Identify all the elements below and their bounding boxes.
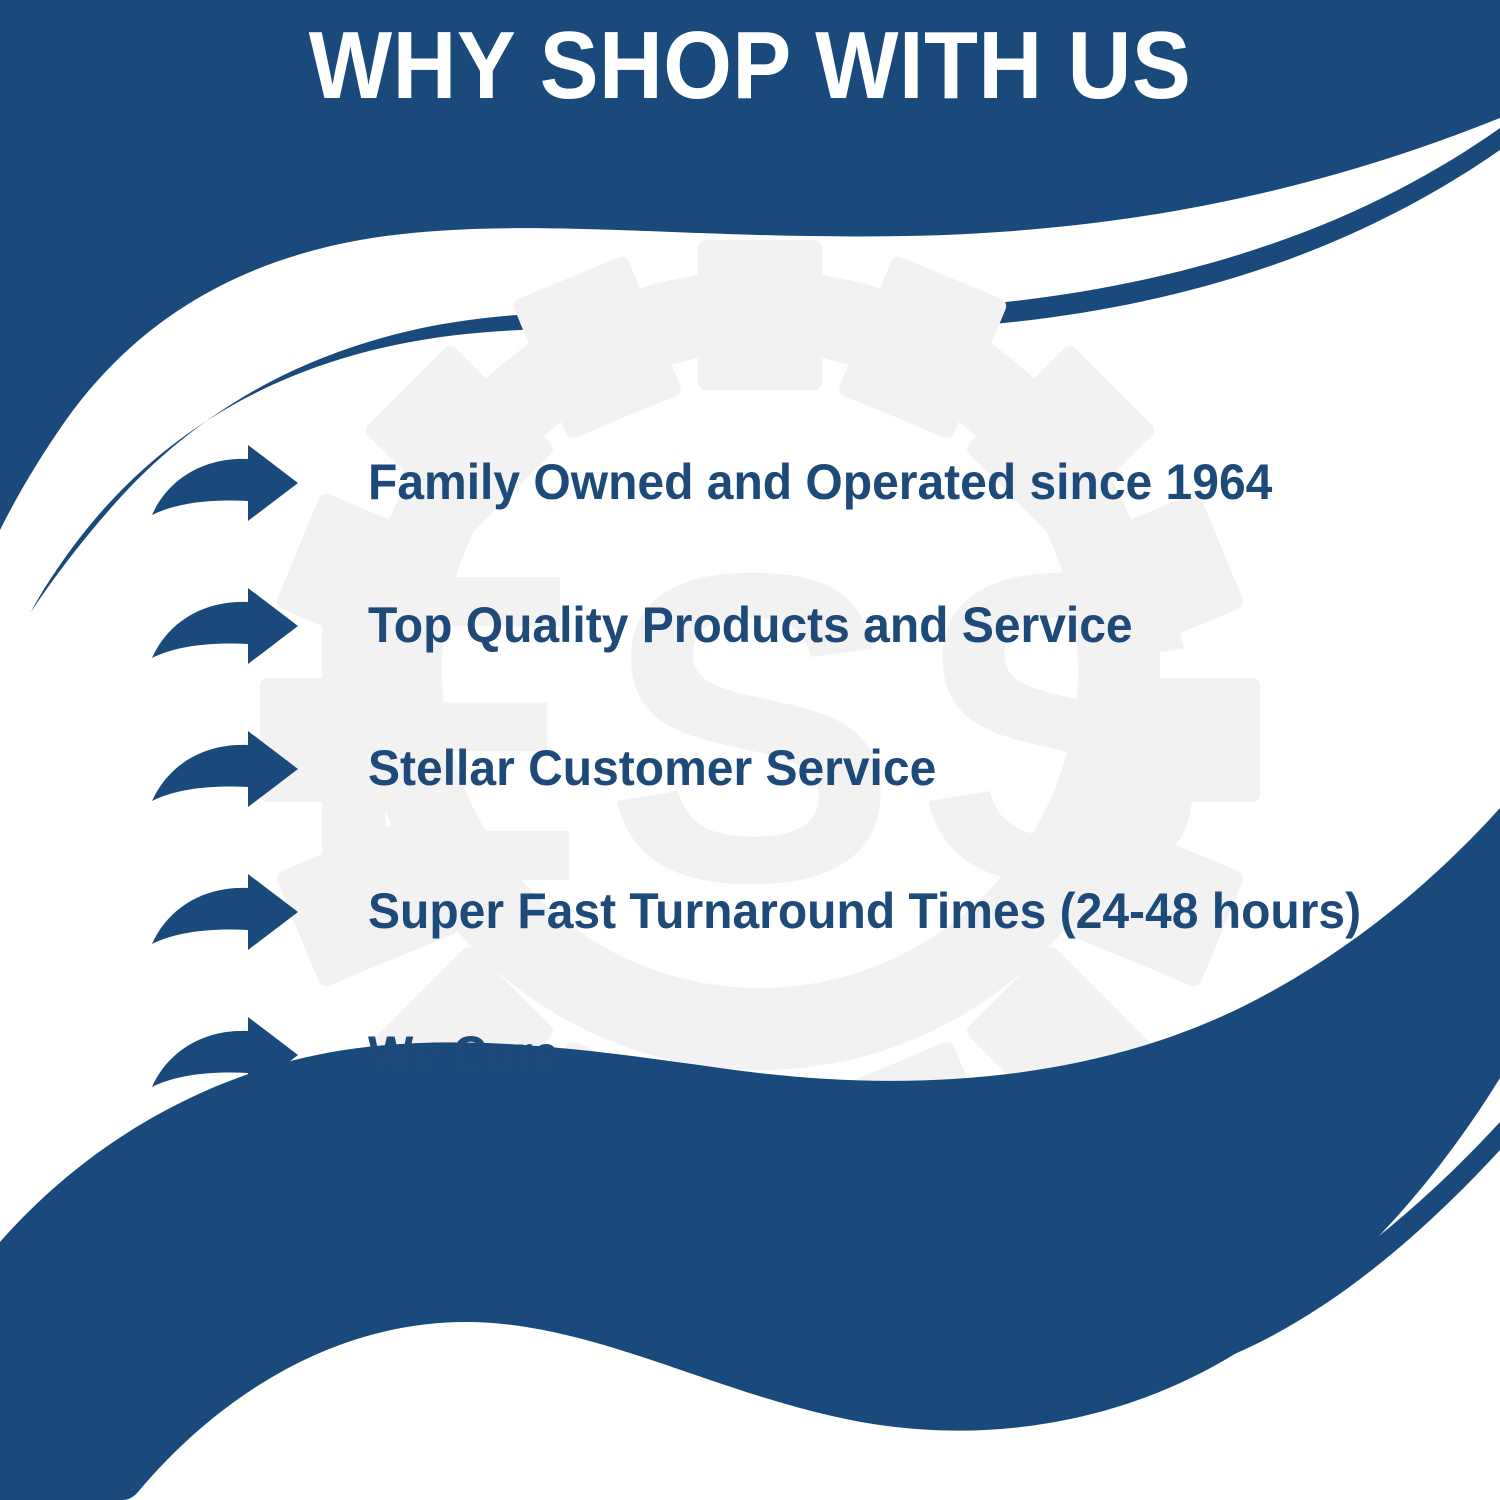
list-item-label: Super Fast Turnaround Times (24-48 hours… xyxy=(368,883,1361,941)
curved-arrow-right-icon xyxy=(150,586,300,666)
list-item: Family Owned and Operated since 1964 xyxy=(150,430,1450,535)
list-item-label: Top Quality Products and Service xyxy=(368,597,1133,655)
list-item: Stellar Customer Service xyxy=(150,716,1450,821)
curved-arrow-right-icon xyxy=(150,729,300,809)
curved-arrow-right-icon xyxy=(150,1015,300,1095)
bottom-swoosh-stripe xyxy=(110,1122,1500,1500)
page-title: WHY SHOP WITH US xyxy=(60,16,1440,117)
curved-arrow-right-icon xyxy=(150,443,300,523)
list-item-label: Family Owned and Operated since 1964 xyxy=(368,454,1272,512)
list-item: Top Quality Products and Service xyxy=(150,573,1450,678)
list-item: Super Fast Turnaround Times (24-48 hours… xyxy=(150,859,1450,964)
list-item: We Care xyxy=(150,1002,1450,1107)
list-item-label: We Care xyxy=(368,1026,559,1084)
why-shop-with-us-poster: ESS WHY SHOP WITH US Family Owned and Op… xyxy=(0,0,1500,1500)
curved-arrow-right-icon xyxy=(150,872,300,952)
benefits-list: Family Owned and Operated since 1964 Top… xyxy=(150,430,1450,1107)
list-item-label: Stellar Customer Service xyxy=(368,740,936,798)
